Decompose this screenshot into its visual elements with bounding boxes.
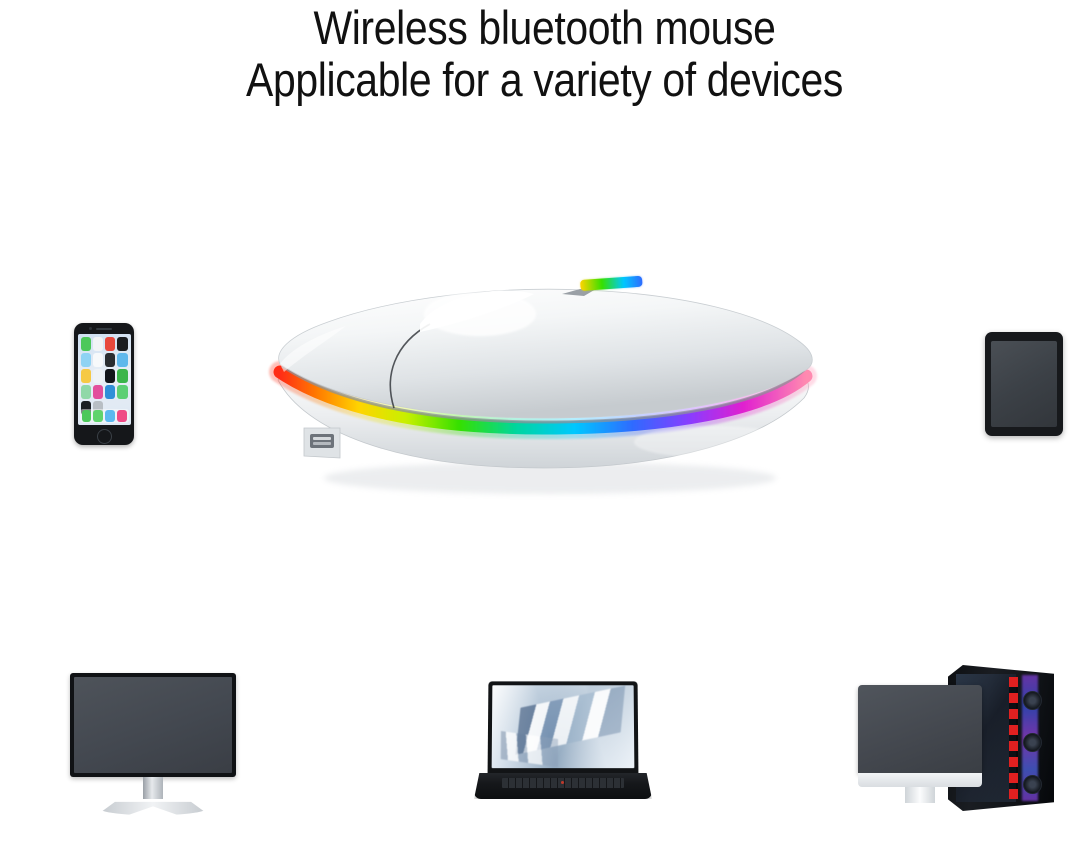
phone-app-icon — [81, 369, 91, 383]
tablet-screen — [991, 341, 1057, 427]
wireless-mouse-illustration — [244, 232, 856, 550]
page-title: Wireless bluetooth mouse Applicable for … — [0, 0, 1089, 106]
badge-inner-laptop — [474, 681, 652, 805]
usb-port-pin-upper — [313, 437, 331, 440]
phone-app-icon — [81, 385, 91, 399]
badge-inner-smartphone — [74, 323, 134, 445]
badge-laptop — [438, 618, 688, 868]
phone-app-icon — [117, 369, 127, 383]
phone-screen — [78, 334, 131, 425]
pc-fan-icon — [1023, 733, 1042, 752]
pc-fan-icon — [1023, 691, 1042, 710]
phone-app-icon — [93, 385, 103, 399]
phone-app-icon — [105, 337, 115, 351]
phone-dock-icon — [82, 410, 92, 422]
pc-monitor-screen — [858, 685, 982, 773]
pc-fan-icon — [1023, 775, 1042, 794]
mouse-rear-reflection — [634, 426, 794, 458]
usb-port-pin-lower — [313, 442, 331, 445]
badge-inner-tablet — [985, 332, 1063, 436]
pc-rgb-strip-red — [1009, 677, 1018, 800]
phone-app-icon — [117, 385, 127, 399]
badge-inner-pc — [858, 665, 1054, 821]
desktop-tower-icon — [858, 665, 1054, 821]
phone-app-icon — [105, 369, 115, 383]
phone-home-button — [97, 429, 112, 444]
phone-dock-icon — [105, 410, 115, 422]
phone-app-icon — [105, 385, 115, 399]
smartphone-icon — [74, 323, 134, 445]
badge-tablet — [928, 288, 1089, 480]
laptop-icon — [474, 681, 652, 805]
phone-app-icon — [117, 337, 127, 351]
hero-product-image — [244, 232, 856, 550]
phone-app-icon — [93, 353, 103, 367]
badge-desktop-pc — [828, 618, 1084, 868]
badge-inner-monitor — [70, 673, 236, 813]
phone-app-icon — [105, 353, 115, 367]
pc-monitor-chin — [858, 773, 982, 787]
phone-dock-icon — [117, 410, 127, 422]
badge-smartphone — [8, 288, 200, 480]
laptop-screen — [492, 685, 635, 768]
monitor-stand-neck — [143, 777, 163, 799]
usb-port — [310, 434, 334, 448]
page-title-line-2: Applicable for a variety of devices — [71, 54, 1018, 106]
phone-dock-icon — [93, 410, 103, 422]
monitor-screen — [74, 677, 232, 773]
tablet-icon — [985, 332, 1063, 436]
laptop-base — [474, 773, 652, 799]
phone-dock — [80, 409, 129, 423]
monitor-stand-base — [97, 799, 209, 815]
pc-monitor-stand — [905, 787, 935, 803]
laptop-lid — [488, 681, 639, 773]
phone-app-icon — [93, 369, 103, 383]
monitor-bezel — [70, 673, 236, 777]
page-title-line-1: Wireless bluetooth mouse — [71, 2, 1018, 54]
phone-app-icon — [81, 337, 91, 351]
badge-desktop-monitor — [28, 618, 278, 868]
mouse-gloss — [424, 292, 536, 336]
phone-camera-icon — [89, 327, 92, 330]
phone-app-icon — [93, 337, 103, 351]
phone-app-icon — [81, 353, 91, 367]
phone-earpiece-icon — [96, 328, 112, 330]
pc-monitor — [858, 685, 982, 805]
scroll-wheel-rgb-glow — [580, 276, 643, 291]
monitor-icon — [70, 673, 236, 813]
phone-app-icon — [117, 353, 127, 367]
